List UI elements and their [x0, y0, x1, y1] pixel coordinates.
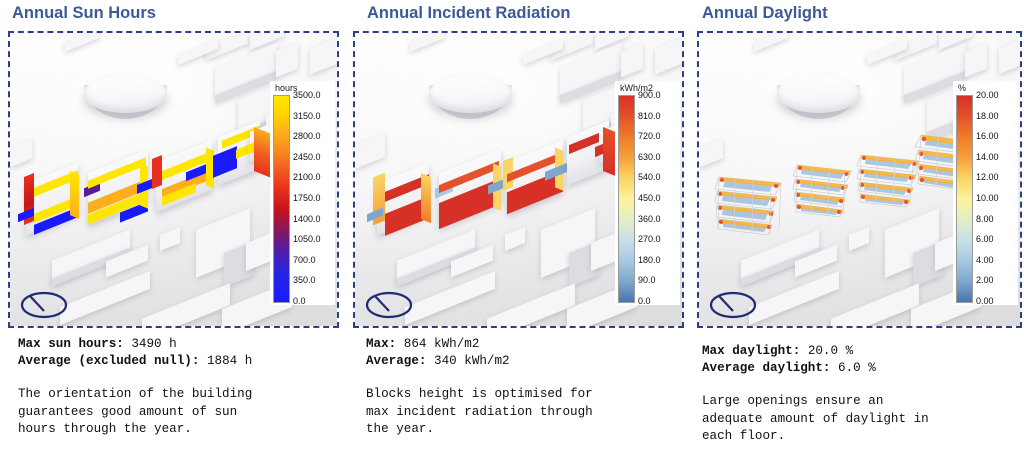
stat-row: Max sun hours: 3490 h	[18, 336, 252, 353]
context-building	[965, 43, 987, 78]
legend-tick: 270.0	[638, 234, 661, 244]
context-building	[487, 283, 575, 326]
context-building	[410, 33, 444, 52]
context-building	[754, 33, 788, 52]
daylight-floor-stack	[713, 171, 787, 239]
legend-tick: 1400.0	[293, 214, 321, 224]
description-line: guarantees good amount of sun	[18, 404, 252, 422]
description-line: Large openings ensure an	[702, 393, 929, 411]
viewport-annual-incident-radiation[interactable]: kWh/m2 900.0 810.0 720.0 630.0 540.0 450…	[353, 31, 684, 328]
viewport-annual-daylight[interactable]: % 20.00 18.00 16.00 14.00 12.00 10.00 8.…	[697, 31, 1022, 328]
legend-tick: 1750.0	[293, 193, 321, 203]
legend-tick: 810.0	[638, 111, 661, 121]
round-pavilion-roof	[429, 75, 512, 113]
legend-tick: 540.0	[638, 172, 661, 182]
stat-row: Average: 340 kWh/m2	[366, 353, 593, 370]
stat-row: Max: 864 kWh/m2	[366, 336, 593, 353]
legend-tick: 18.00	[976, 111, 999, 121]
legend-tick: 14.00	[976, 152, 999, 162]
legend-tick: 350.0	[293, 275, 316, 285]
stat-label: Average:	[366, 354, 426, 368]
legend-tick: 2800.0	[293, 131, 321, 141]
north-arrow-icon	[363, 286, 419, 320]
analysis-facade-strip	[70, 171, 79, 219]
legend-tick: 3150.0	[293, 111, 321, 121]
legend-annual-daylight: % 20.00 18.00 16.00 14.00 12.00 10.00 8.…	[953, 81, 1018, 305]
stat-value: 864 kWh/m2	[404, 337, 480, 351]
context-building	[10, 139, 32, 168]
description-line: the year.	[366, 421, 593, 439]
daylight-floor-stack	[791, 161, 857, 219]
context-building	[505, 227, 525, 251]
caption-annual-daylight: Max daylight: 20.0 % Average daylight: 6…	[702, 343, 929, 446]
stat-value: 340 kWh/m2	[434, 354, 510, 368]
legend-tick: 90.0	[638, 275, 656, 285]
legend-tick: 6.00	[976, 234, 994, 244]
legend-tick: 10.00	[976, 193, 999, 203]
legend-tick: 8.00	[976, 214, 994, 224]
round-pavilion-roof	[84, 75, 167, 113]
analysis-board: Annual Sun Hours	[0, 0, 1024, 459]
legend-tick: 0.0	[293, 296, 306, 306]
legend-tick: 0.00	[976, 296, 994, 306]
context-building	[160, 227, 180, 251]
panel-title: Annual Sun Hours	[12, 4, 156, 23]
legend-tick-list: 900.0 810.0 720.0 630.0 540.0 450.0 360.…	[638, 95, 678, 301]
description-line: each floor.	[702, 428, 929, 446]
legend-tick: 2100.0	[293, 172, 321, 182]
legend-tick: 1050.0	[293, 234, 321, 244]
analysis-facade-strip	[152, 155, 162, 189]
caption-annual-sun-hours: Max sun hours: 3490 h Average (excluded …	[18, 336, 252, 439]
legend-tick: 12.00	[976, 172, 999, 182]
caption-annual-incident-radiation: Max: 864 kWh/m2 Average: 340 kWh/m2 Bloc…	[366, 336, 593, 439]
description-line: max incident radiation through	[366, 404, 593, 422]
description-line: Blocks height is optimised for	[366, 386, 593, 404]
description-line: hours through the year.	[18, 421, 252, 439]
legend-tick: 16.00	[976, 131, 999, 141]
legend-color-bar	[273, 95, 290, 303]
legend-tick: 180.0	[638, 255, 661, 265]
description-line: The orientation of the building	[18, 386, 252, 404]
legend-tick: 900.0	[638, 90, 661, 100]
panel-description: Large openings ensure an adequate amount…	[702, 393, 929, 446]
context-building	[849, 227, 869, 251]
stat-label: Average daylight:	[702, 361, 830, 375]
legend-tick: 3500.0	[293, 90, 321, 100]
panel-description: Blocks height is optimised for max incid…	[366, 386, 593, 439]
context-building	[142, 283, 230, 326]
panel-description: The orientation of the building guarante…	[18, 386, 252, 439]
stat-row: Average daylight: 6.0 %	[702, 360, 929, 377]
legend-tick: 4.00	[976, 255, 994, 265]
context-building	[355, 133, 385, 169]
stat-label: Average (excluded null):	[18, 354, 199, 368]
legend-tick: 2.00	[976, 275, 994, 285]
stat-value: 3490 h	[131, 337, 176, 351]
legend-color-bar	[956, 95, 973, 303]
legend-tick: 450.0	[638, 193, 661, 203]
context-building	[831, 283, 919, 326]
context-building	[999, 38, 1020, 75]
legend-tick: 720.0	[638, 131, 661, 141]
legend-tick: 360.0	[638, 214, 661, 224]
legend-tick: 2450.0	[293, 152, 321, 162]
description-line: adequate amount of daylight in	[702, 411, 929, 429]
stat-value: 1884 h	[207, 354, 252, 368]
legend-annual-incident-radiation: kWh/m2 900.0 810.0 720.0 630.0 540.0 450…	[615, 81, 680, 305]
legend-color-bar	[618, 95, 635, 303]
stat-value: 6.0 %	[838, 361, 876, 375]
panel-title: Annual Incident Radiation	[367, 4, 571, 23]
stat-label: Max sun hours:	[18, 337, 124, 351]
context-building	[655, 37, 682, 74]
legend-tick: 630.0	[638, 152, 661, 162]
stat-row: Average (excluded null): 1884 h	[18, 353, 252, 370]
stat-value: 20.0 %	[808, 344, 853, 358]
legend-annual-sun-hours: hours 3500.0 3150.0 2800.0 2450.0 2100.0…	[270, 81, 335, 305]
legend-tick: 0.0	[638, 296, 651, 306]
viewport-annual-sun-hours[interactable]: hours 3500.0 3150.0 2800.0 2450.0 2100.0…	[8, 31, 339, 328]
legend-tick-list: 3500.0 3150.0 2800.0 2450.0 2100.0 1750.…	[293, 95, 333, 301]
legend-tick: 20.00	[976, 90, 999, 100]
context-building	[699, 138, 723, 168]
stat-label: Max daylight:	[702, 344, 800, 358]
context-building	[621, 43, 643, 78]
north-arrow-icon	[707, 286, 763, 320]
panel-title: Annual Daylight	[702, 4, 828, 23]
legend-tick-list: 20.00 18.00 16.00 14.00 12.00 10.00 8.00…	[976, 95, 1016, 301]
context-building	[65, 33, 99, 52]
stat-label: Max:	[366, 337, 396, 351]
stat-row: Max daylight: 20.0 %	[702, 343, 929, 360]
analysis-facade-strip	[421, 173, 431, 223]
context-building	[310, 37, 337, 74]
legend-tick: 700.0	[293, 255, 316, 265]
round-pavilion-roof	[777, 75, 860, 113]
context-building	[276, 43, 298, 78]
north-arrow-icon	[18, 286, 74, 320]
